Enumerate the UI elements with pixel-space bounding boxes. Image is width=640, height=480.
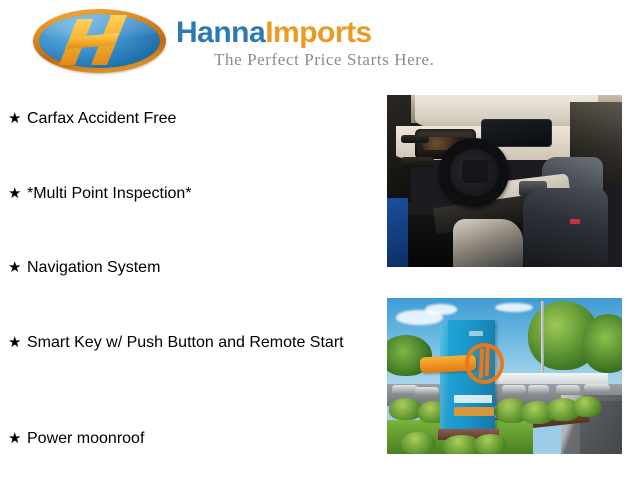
brand-name-imports: Imports xyxy=(265,16,372,49)
dealership-car xyxy=(502,385,526,394)
list-item: ★ Navigation System xyxy=(8,257,368,279)
dealership-shrub xyxy=(474,434,507,454)
star-icon: ★ xyxy=(8,183,27,204)
interior-air-vent xyxy=(401,135,429,144)
interior-blue-door-panel xyxy=(387,198,408,267)
star-icon: ★ xyxy=(8,428,27,449)
star-icon: ★ xyxy=(8,108,27,129)
feature-label: Carfax Accident Free xyxy=(27,108,176,130)
dealership-car xyxy=(392,385,418,394)
dealership-sign-h-letter-icon xyxy=(477,346,491,380)
logo-h-letter-icon xyxy=(33,9,166,73)
dealership-sign-address-number xyxy=(469,331,483,336)
dealership-shrub xyxy=(573,396,601,416)
interior-driver-seat xyxy=(453,219,524,267)
dealership-cloud xyxy=(495,303,533,312)
interior-air-vent xyxy=(401,157,434,167)
vehicle-feature-slide: HannaImports The Perfect Price Starts He… xyxy=(0,0,640,480)
list-item: ★ *Multi Point Inspection* xyxy=(8,183,368,205)
interior-red-indicator xyxy=(570,219,579,224)
feature-label: Power moonroof xyxy=(27,428,144,450)
brand-header: HannaImports The Perfect Price Starts He… xyxy=(0,0,640,86)
list-item: ★ Carfax Accident Free xyxy=(8,108,368,130)
interior-steering-wheel-hub xyxy=(462,160,488,182)
star-icon: ★ xyxy=(8,257,27,278)
interior-passenger-seat xyxy=(523,188,608,267)
brand-tagline: The Perfect Price Starts Here. xyxy=(214,50,435,70)
feature-label: Smart Key w/ Push Button and Remote Star… xyxy=(27,332,344,354)
vehicle-interior-photo[interactable] xyxy=(387,95,622,267)
hanna-oval-h-logo-icon xyxy=(33,9,166,73)
brand-wordmark: HannaImports xyxy=(176,16,372,50)
dealership-car xyxy=(584,384,610,393)
dealership-sign-hanna-text xyxy=(454,395,492,403)
list-item: ★ Smart Key w/ Push Button and Remote St… xyxy=(8,332,360,354)
list-item: ★ Power moonroof xyxy=(8,428,368,450)
dealership-shrub xyxy=(401,432,436,454)
dealership-car xyxy=(528,385,549,394)
dealership-car xyxy=(556,385,580,394)
star-icon: ★ xyxy=(8,332,27,353)
dealership-sign-imports-text xyxy=(454,407,494,416)
dealership-tree xyxy=(582,314,622,373)
feature-label: Navigation System xyxy=(27,257,160,279)
feature-label: *Multi Point Inspection* xyxy=(27,183,192,205)
dealership-sign-photo[interactable] xyxy=(387,298,622,454)
dealership-car xyxy=(415,387,439,396)
brand-name-hanna: Hanna xyxy=(176,16,265,49)
